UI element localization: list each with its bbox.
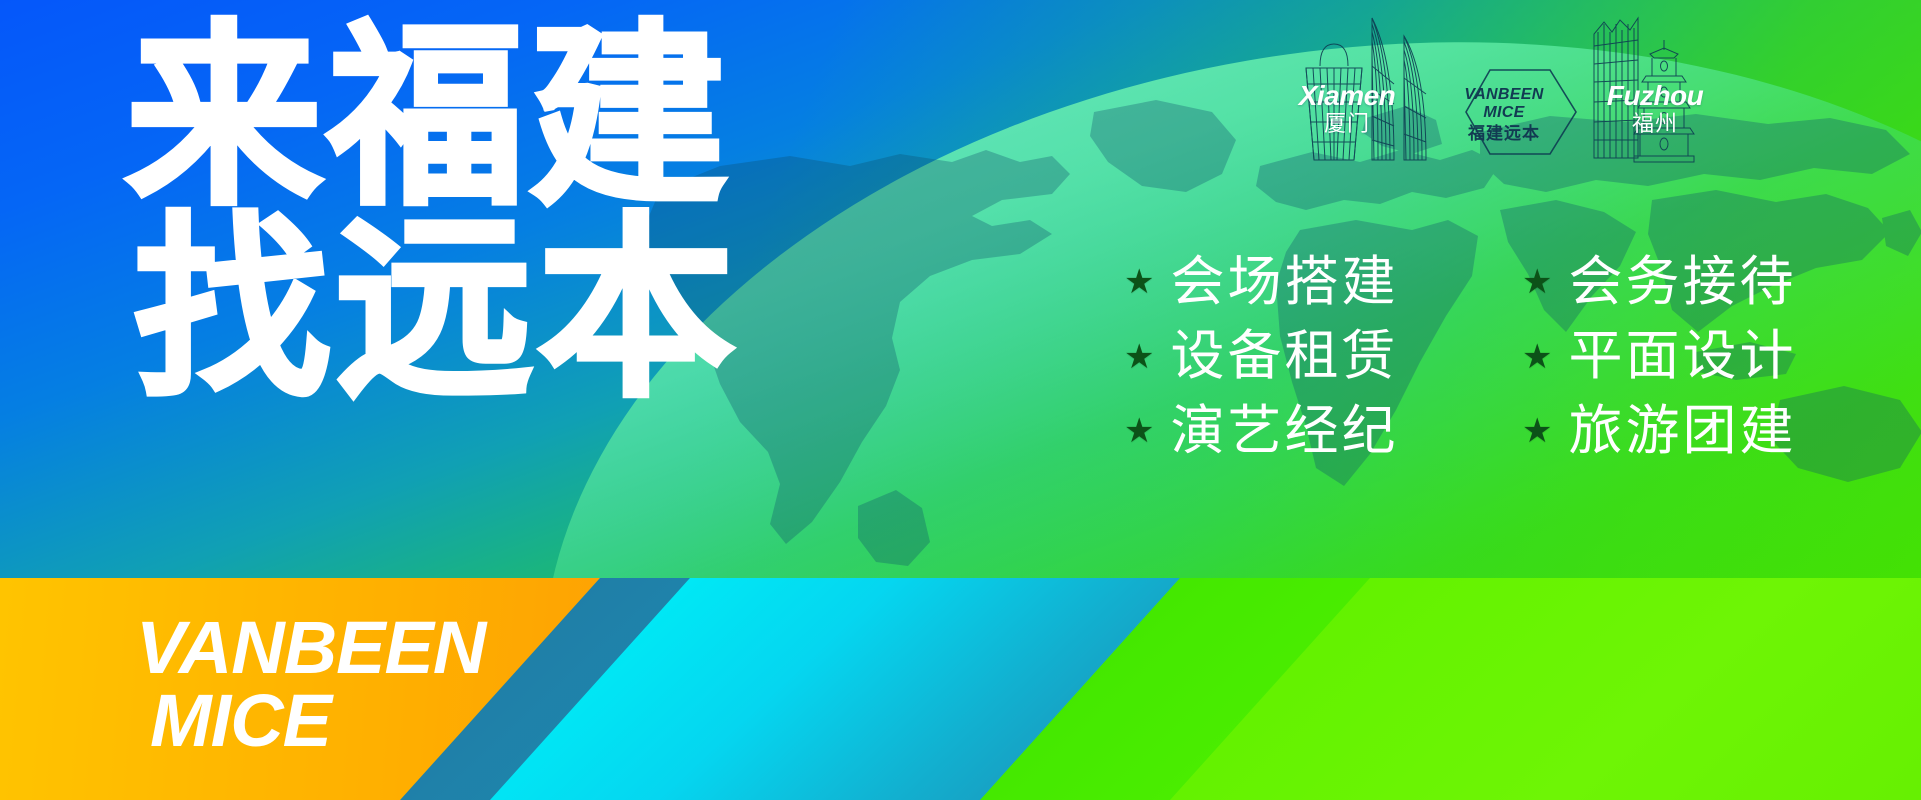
service-label: 演艺经纪 [1170,401,1398,461]
headline-line-1: 来福建 [126,22,740,214]
footer-strip: VANBEEN MICE [0,578,1921,800]
city-lockup: Xiamen 厦门 Fuzhou 福州 VANBEEN MICE 福建远本 [1294,6,1714,176]
service-label: 旅游团建 [1568,401,1796,461]
services-list: ★ 会场搭建 ★ 会务接待 ★ 设备租赁 ★ 平面设计 ★ 演艺经纪 ★ 旅游团… [1124,252,1914,461]
vanbeen-hexagon-badge: VANBEEN MICE 福建远本 [1428,68,1580,162]
service-label: 会务接待 [1568,252,1796,312]
service-label: 设备租赁 [1170,326,1398,386]
star-bullet-icon: ★ [1124,265,1154,299]
badge-line-2: MICE [1483,105,1524,122]
city-name-cn-xiamen: 厦门 [1282,113,1412,135]
service-item: ★ 演艺经纪 [1124,401,1516,461]
star-bullet-icon: ★ [1124,340,1154,374]
star-bullet-icon: ★ [1522,414,1552,448]
headline: 来福建 找远本 [126,22,740,406]
promotional-banner: 来福建 找远本 [0,0,1921,800]
star-bullet-icon: ★ [1522,265,1552,299]
footer-brand-wordmark: VANBEEN MICE [136,612,485,756]
service-item: ★ 旅游团建 [1522,401,1914,461]
service-item: ★ 会场搭建 [1124,252,1516,312]
service-item: ★ 会务接待 [1522,252,1914,312]
footer-brand-line-1: VANBEEN [136,606,485,689]
service-label: 平面设计 [1568,326,1796,386]
star-bullet-icon: ★ [1522,340,1552,374]
badge-line-1: VANBEEN [1464,87,1543,104]
city-label-fuzhou: Fuzhou 福州 [1590,82,1720,135]
footer-brand-line-2: MICE [150,685,485,756]
service-label: 会场搭建 [1170,252,1398,312]
city-name-en-xiamen: Xiamen [1282,82,1412,110]
city-label-xiamen: Xiamen 厦门 [1282,82,1412,135]
service-item: ★ 平面设计 [1522,326,1914,386]
service-item: ★ 设备租赁 [1124,326,1516,386]
badge-line-3: 福建远本 [1468,125,1540,143]
city-name-cn-fuzhou: 福州 [1590,113,1720,135]
star-bullet-icon: ★ [1124,414,1154,448]
headline-line-2: 找远本 [134,214,740,406]
city-name-en-fuzhou: Fuzhou [1590,82,1720,110]
